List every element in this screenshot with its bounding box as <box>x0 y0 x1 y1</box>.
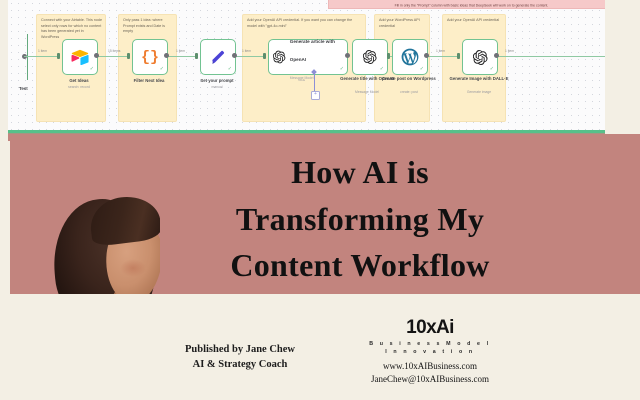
node-success-check: ✓ <box>160 67 164 72</box>
node-success-check: ✓ <box>380 67 384 72</box>
node-label: Set your prompt <box>186 78 248 83</box>
node-success-check: ✓ <box>90 67 94 72</box>
poster-canvas: Fill in only the "Prompt" column with ba… <box>0 0 640 400</box>
wire-label: 15 items <box>108 49 120 53</box>
node-output-port[interactable] <box>232 53 237 58</box>
node-generate-title-openai[interactable]: ✓ <box>352 39 388 75</box>
published-by: Published by Jane Chew <box>165 342 315 357</box>
wire-dalle-next <box>496 56 605 57</box>
node-input-port[interactable] <box>263 53 266 59</box>
node-label: Generate Image with DALL·E <box>444 76 514 81</box>
node-filter-next-idea[interactable]: {} ✓ <box>132 39 168 75</box>
sticky-note-text: Connect with your Airtable. This node se… <box>41 18 102 40</box>
workflow-banner-note: Fill in only the "Prompt" column with ba… <box>328 0 605 9</box>
brand-tagline-line-1: B u s i n e s s M o d e l <box>345 340 515 348</box>
brand-email[interactable]: JaneChew@10xAIBusiness.com <box>345 373 515 386</box>
sticky-note-text: Add your WordPress API credential <box>379 18 426 29</box>
node-inline-title: Generate article with OpenAI <box>290 39 335 62</box>
wire-label: 1 item <box>505 49 514 53</box>
node-sublabel: search: record <box>48 85 110 89</box>
wire-label: 1 item <box>176 49 185 53</box>
page-title: How AI is Transforming My Content Workfl… <box>150 140 570 298</box>
portrait-cheek-shadow <box>120 259 146 277</box>
workflow-banner-text: Fill in only the "Prompt" column with ba… <box>395 4 549 8</box>
add-tool-button[interactable]: + <box>311 91 320 100</box>
brand-block: 10xAi B u s i n e s s M o d e l I n n o … <box>345 318 515 386</box>
code-braces-icon: {} <box>141 50 159 65</box>
wire-getideas-filter <box>96 56 130 57</box>
node-output-port[interactable] <box>94 53 99 58</box>
openai-icon <box>273 50 286 64</box>
wire-label: 1 item <box>38 49 47 53</box>
node-output-port[interactable] <box>424 53 429 58</box>
brand-logo: 10xAi <box>345 318 515 337</box>
node-set-your-prompt[interactable]: ✓ <box>200 39 236 75</box>
node-sublabel: manual <box>186 85 248 89</box>
wire-trigger-getideas <box>24 56 60 57</box>
node-generate-image-dalle[interactable]: ✓ <box>462 39 498 75</box>
tool-port-label: Tools <box>298 78 305 82</box>
title-line-1: How AI is <box>291 149 429 196</box>
node-label: Get Ideas <box>48 78 110 83</box>
wire-label: 1 item <box>436 49 445 53</box>
ai-tool-connector <box>314 73 315 91</box>
sticky-note-text: Add your OpenAI API credential <box>447 18 502 24</box>
sticky-note-text: Only pass 1 idea: where Prompt exists an… <box>123 18 173 35</box>
hero-right-margin <box>605 141 640 294</box>
node-get-ideas[interactable]: ✓ <box>62 39 98 75</box>
wire-filter-prompt <box>166 56 198 57</box>
node-success-check: ✓ <box>490 67 494 72</box>
author-role: AI & Strategy Coach <box>165 357 315 372</box>
node-label: Create post on Wordpress <box>376 76 442 81</box>
node-generate-article-openai[interactable]: Generate article with OpenAI Message Mod… <box>268 39 348 75</box>
node-sublabel: Generate image <box>444 90 514 94</box>
node-success-check: ✓ <box>228 67 232 72</box>
node-label: Filter Next Idea <box>118 78 180 83</box>
hero-left-margin <box>0 141 10 294</box>
footer-area <box>0 294 640 400</box>
node-input-port[interactable] <box>57 53 60 59</box>
node-sublabel: create: post <box>376 90 442 94</box>
node-success-check: ✓ <box>340 67 344 72</box>
node-success-check: ✓ <box>420 67 424 72</box>
openai-icon <box>363 50 377 64</box>
node-output-port[interactable] <box>494 53 499 58</box>
title-line-2: Transforming My <box>236 196 484 243</box>
node-output-port[interactable] <box>345 53 350 58</box>
node-input-port[interactable] <box>127 53 130 59</box>
wire-label: 1 item <box>242 49 251 53</box>
pencil-icon <box>210 49 227 66</box>
openai-icon <box>473 50 488 65</box>
wire-prompt-article <box>234 56 266 57</box>
byline: Published by Jane Chew AI & Strategy Coa… <box>165 342 315 372</box>
node-input-port[interactable] <box>387 53 390 59</box>
node-output-port[interactable] <box>164 53 169 58</box>
node-input-port[interactable] <box>195 53 198 59</box>
sticky-note-text: Add your OpenAI API credential. If you w… <box>247 18 362 29</box>
n8n-workflow-canvas[interactable]: Fill in only the "Prompt" column with ba… <box>8 0 605 134</box>
wire-wordpress-dalle <box>426 56 460 57</box>
airtable-icon <box>71 49 89 65</box>
brand-website[interactable]: www.10xAIBusiness.com <box>345 360 515 373</box>
wordpress-icon <box>401 48 419 66</box>
node-create-post-wordpress[interactable]: ✓ <box>392 39 428 75</box>
node-input-port[interactable] <box>457 53 460 59</box>
title-line-3: Content Workflow <box>230 242 489 289</box>
brand-tagline-line-2: I n n o v a t i o n <box>345 348 515 356</box>
trigger-label: Test <box>19 86 28 91</box>
